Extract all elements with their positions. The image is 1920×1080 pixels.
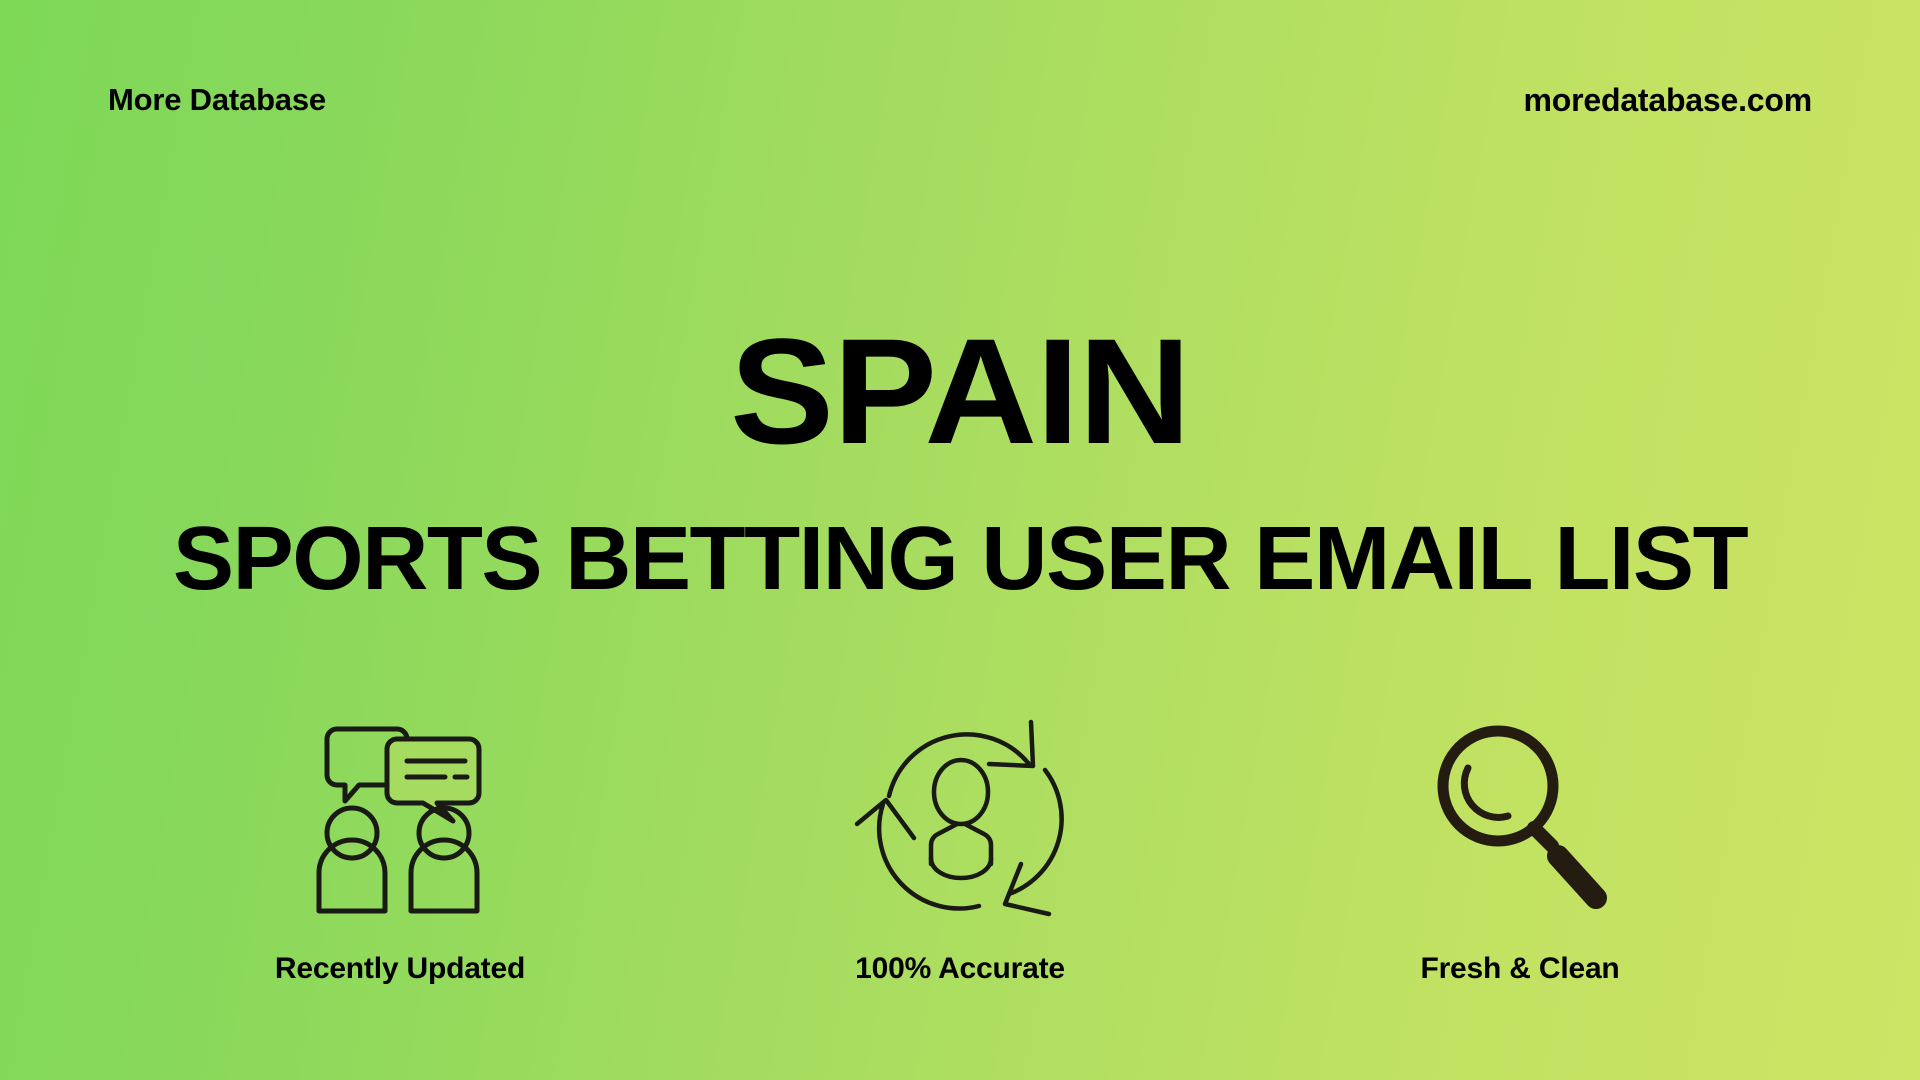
two-people-chat-bubbles-icon — [305, 715, 495, 915]
feature-row: Recently Updated — [0, 700, 1920, 986]
brand-name: More Database — [108, 82, 326, 118]
person-refresh-cycle-icon — [853, 708, 1068, 923]
website-url: moredatabase.com — [1524, 82, 1812, 119]
feature-label: 100% Accurate — [855, 952, 1065, 986]
feature-recently-updated: Recently Updated — [190, 700, 610, 986]
promo-banner: More Database moredatabase.com SPAIN SPO… — [0, 0, 1920, 1080]
banner-header: More Database moredatabase.com — [0, 0, 1920, 200]
list-subtitle: SPORTS BETTING USER EMAIL LIST — [0, 514, 1920, 604]
feature-fresh-clean: Fresh & Clean — [1310, 700, 1730, 986]
feature-icon-wrap — [305, 700, 495, 930]
feature-icon-wrap — [853, 700, 1068, 930]
feature-icon-wrap — [1430, 700, 1610, 930]
country-title: SPAIN — [0, 316, 1920, 466]
magnifying-glass-icon — [1430, 718, 1610, 913]
feature-label: Recently Updated — [275, 952, 525, 986]
hero-titles: SPAIN SPORTS BETTING USER EMAIL LIST — [0, 316, 1920, 604]
feature-label: Fresh & Clean — [1420, 952, 1619, 986]
feature-accurate: 100% Accurate — [750, 700, 1170, 986]
